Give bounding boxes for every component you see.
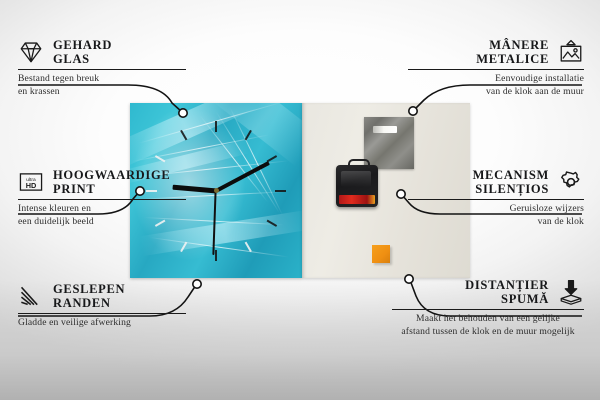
hanging-picture-icon	[558, 39, 584, 65]
quartz-mechanism	[336, 165, 378, 207]
callout-title-2: SILENȚIOS	[473, 182, 549, 196]
callout-sub-1: Eenvoudige installatie	[408, 73, 584, 86]
callout-sub-2: en krassen	[18, 86, 186, 99]
callout-sub-2: een duidelijk beeld	[18, 216, 186, 229]
callout-title: MECANISM	[473, 168, 549, 182]
callout-rule	[18, 69, 186, 70]
callout-sub-1: Geruisloze wijzers	[408, 203, 584, 216]
beveled-edges-icon	[18, 283, 44, 309]
foam-spacer	[372, 245, 390, 263]
callout-distantier-spuma: DISTANȚIER SPUMĂ Maakt het behouden van …	[392, 278, 584, 339]
callout-sub-2: van de klok aan de muur	[408, 86, 584, 99]
diamond-icon	[18, 39, 44, 65]
callout-title-2: SPUMĂ	[465, 292, 549, 306]
callout-title-2: PRINT	[53, 182, 170, 196]
callout-sub-1: Maakt het behouden van een gelijke	[392, 313, 584, 326]
callout-sub-2: afstand tussen de klok en de muur mogeli…	[392, 326, 584, 339]
callout-sub-1: Gladde en veilige afwerking	[18, 317, 186, 330]
callout-manere-metalice: MÂNERE METALICE Eenvoudige installatie v…	[408, 38, 584, 99]
callout-rule	[392, 309, 584, 310]
callout-sub-1: Intense kleuren en	[18, 203, 186, 216]
callout-sub-2: van de klok	[408, 216, 584, 229]
callout-geslepen-randen: GESLEPEN RANDEN Gladde en veilige afwerk…	[18, 282, 186, 330]
leader-dot-edges	[193, 280, 201, 288]
spacer-arrow-icon	[558, 279, 584, 305]
product-infographic: GEHARD GLAS Bestand tegen breuk en krass…	[0, 0, 600, 400]
callout-rule	[408, 69, 584, 70]
callout-mecanism-silentios: MECANISM SILENȚIOS Geruisloze wijzers va…	[408, 168, 584, 229]
ultra-hd-icon: ultra HD	[18, 169, 44, 195]
metal-hanger-plate	[364, 117, 414, 169]
gear-icon	[558, 169, 584, 195]
mechanism-highlight	[341, 171, 371, 187]
svg-text:HD: HD	[26, 181, 37, 190]
callout-title-2: METALICE	[476, 52, 549, 66]
callout-sub-1: Bestand tegen breuk	[18, 73, 186, 86]
callout-title: GESLEPEN	[53, 282, 125, 296]
callout-hoogwaardige-print: ultra HD HOOGWAARDIGE PRINT Intense kleu…	[18, 168, 186, 229]
battery	[339, 195, 375, 204]
callout-title: DISTANȚIER	[465, 278, 549, 292]
callout-rule	[18, 199, 186, 200]
callout-rule	[408, 199, 584, 200]
callout-gehard-glas: GEHARD GLAS Bestand tegen breuk en krass…	[18, 38, 186, 99]
callout-rule	[18, 313, 186, 314]
callout-title: HOOGWAARDIGE	[53, 168, 170, 182]
callout-title-2: GLAS	[53, 52, 112, 66]
callout-title: MÂNERE	[476, 38, 549, 52]
clock-center-pin	[214, 188, 219, 193]
callout-title: GEHARD	[53, 38, 112, 52]
callout-title-2: RANDEN	[53, 296, 125, 310]
